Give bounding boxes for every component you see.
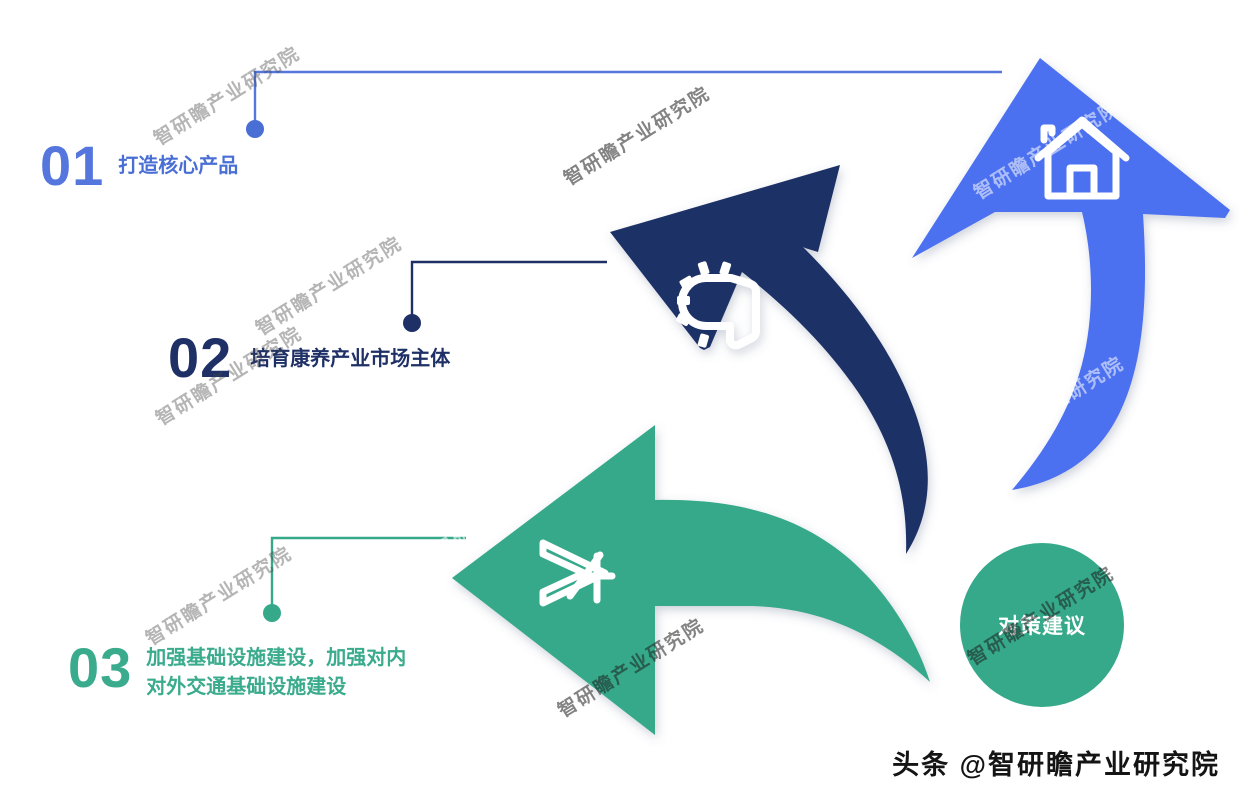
leader-line-01 [246, 72, 1002, 138]
navy-arrow [610, 165, 928, 554]
item-label-02: 培育康养产业市场主体 [250, 345, 450, 374]
item-number-02: 02 [168, 330, 232, 386]
leader-dot-01 [246, 120, 264, 138]
item-label-03: 加强基础设施建设，加强对内对外交通基础设施建设 [146, 644, 416, 702]
leader-dot-03 [263, 604, 281, 622]
item-number-01: 01 [40, 138, 104, 194]
item-label-01: 打造核心产品 [118, 152, 238, 181]
green-arrow [452, 425, 930, 735]
countermeasures-badge: 对策建议 [960, 543, 1124, 707]
source-credit: 头条 @智研瞻产业研究院 [892, 743, 1220, 782]
navy-arrow-shape [610, 165, 928, 554]
list-item-03: 03 加强基础设施建设，加强对内对外交通基础设施建设 [68, 640, 416, 702]
green-arrow-shape [452, 425, 930, 735]
leader-line-02 [403, 262, 607, 332]
list-item-02: 02 培育康养产业市场主体 [168, 330, 450, 386]
item-number-03: 03 [68, 640, 132, 696]
list-item-01: 01 打造核心产品 [40, 138, 238, 194]
blue-arrow [912, 58, 1230, 490]
infographic-canvas: 对策建议 01 打造核心产品 02 培育康养产业市场主体 03 加强基础设施建设… [0, 0, 1248, 800]
blue-arrow-shape [912, 58, 1230, 490]
leader-line-03 [263, 538, 466, 622]
badge-label: 对策建议 [998, 610, 1086, 640]
